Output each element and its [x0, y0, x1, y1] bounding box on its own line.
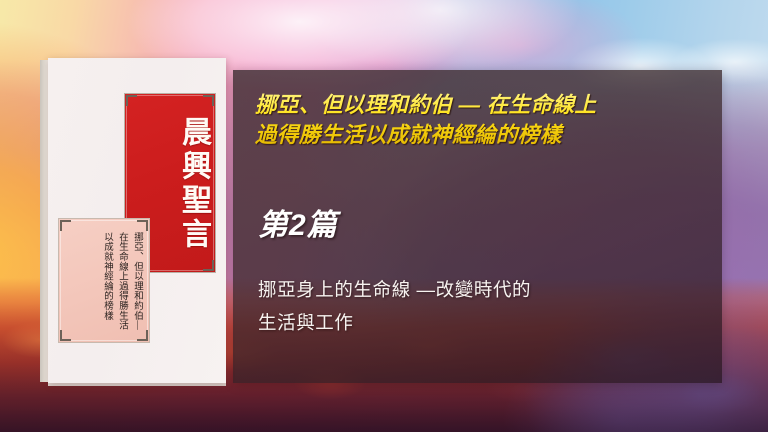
book-subtitle-plaque: 挪亞、但以理和約伯— 在生命線上過得勝生活 以成就神經綸的榜樣: [58, 218, 150, 343]
chapter-number: 第2篇: [258, 200, 338, 244]
book-cover: 晨興聖言 挪亞、但以理和約伯— 在生命線上過得勝生活 以成就神經綸的榜樣: [48, 58, 226, 383]
slide-canvas: 挪亞、但以理和約伯 — 在生命線上 過得勝生活以成就神經綸的榜樣 第2篇 挪亞身…: [0, 0, 768, 432]
message-subtitle: 挪亞身上的生命線 —改變時代的 生活與工作: [258, 273, 678, 339]
ornament-corner-bottom-right: [203, 260, 214, 271]
book-cover-subtitle: 挪亞、但以理和約伯— 在生命線上過得勝生活 以成就神經綸的榜樣: [64, 227, 144, 334]
ornament-corner-top-left: [126, 95, 137, 106]
main-title: 挪亞、但以理和約伯 — 在生命線上 過得勝生活以成就神經綸的榜樣: [255, 90, 707, 150]
ornament-corner-top-right: [203, 95, 214, 106]
book-mockup: 晨興聖言 挪亞、但以理和約伯— 在生命線上過得勝生活 以成就神經綸的榜樣: [40, 58, 226, 386]
